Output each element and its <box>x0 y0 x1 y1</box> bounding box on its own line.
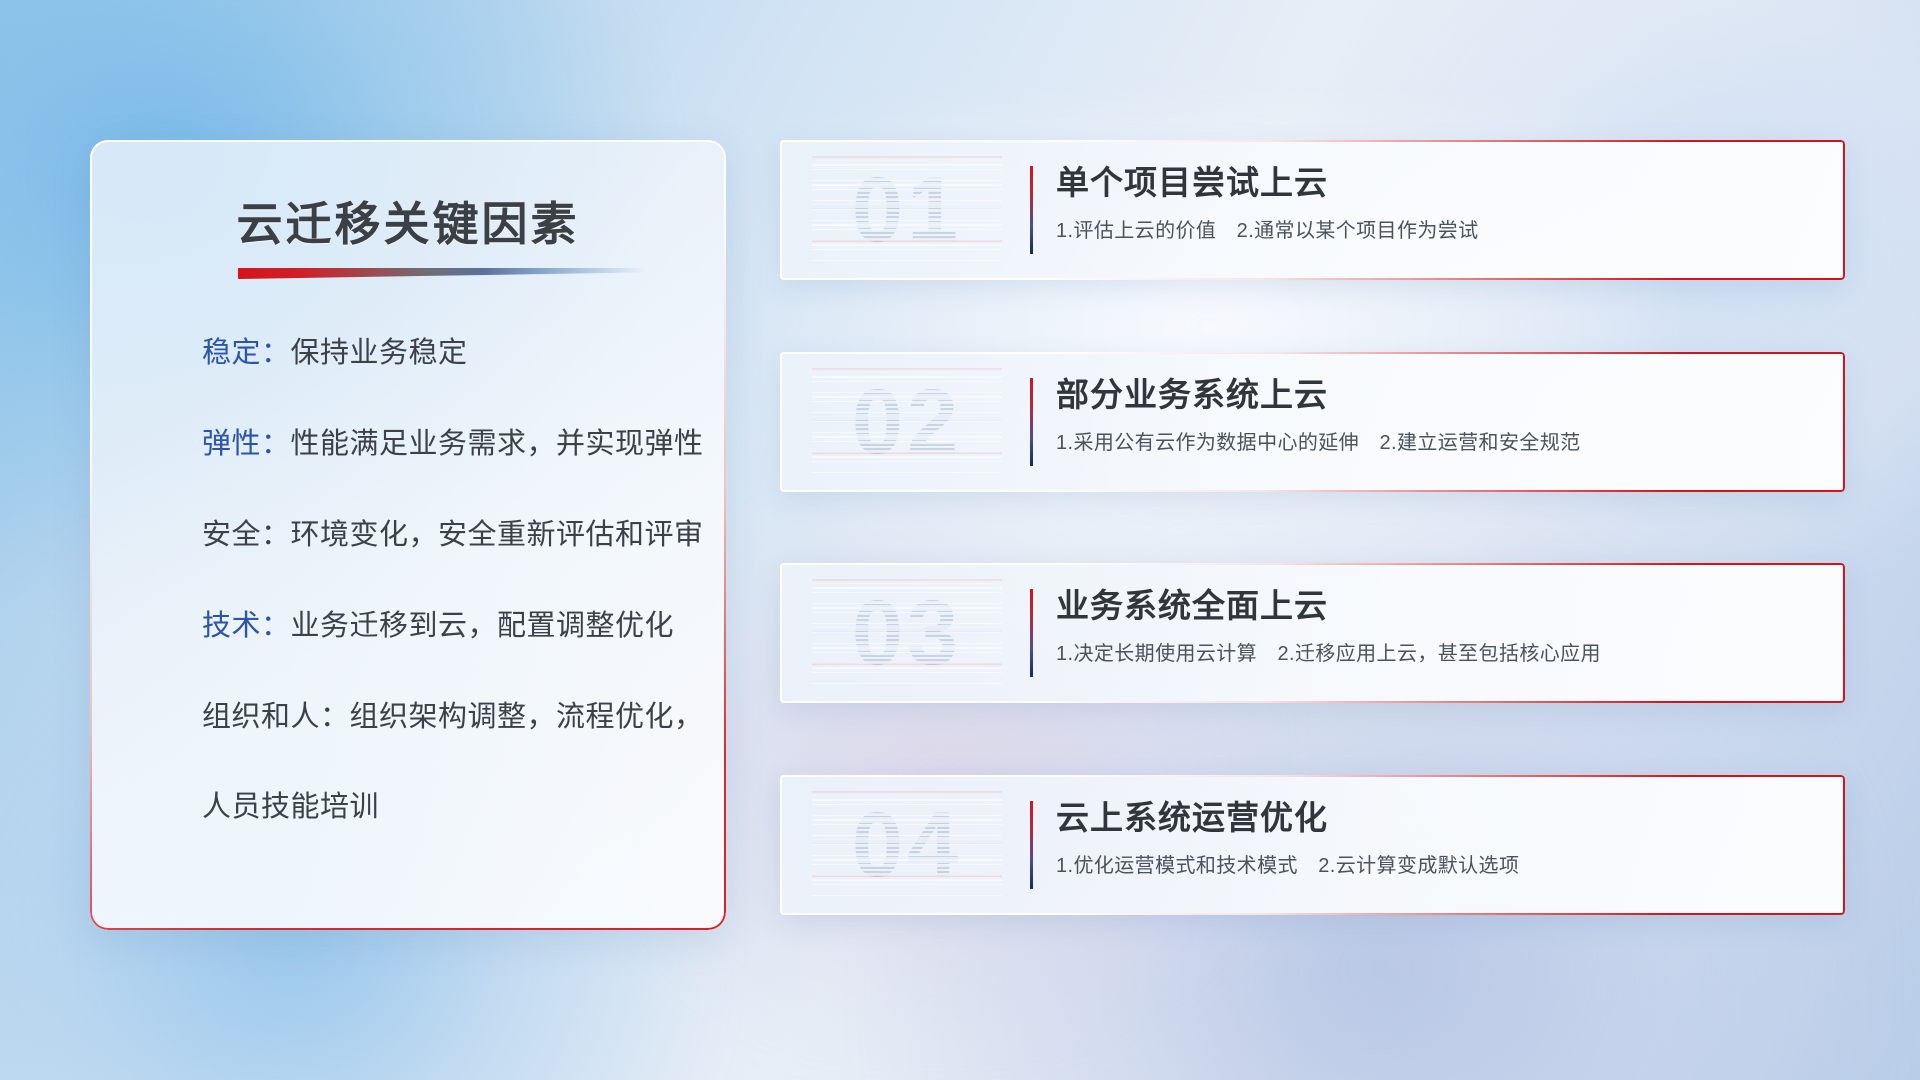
step-description: 1.优化运营模式和技术模式 2.云计算变成默认选项 <box>1056 853 1815 879</box>
list-item: 安全：环境变化，安全重新评估和评审 <box>202 520 682 552</box>
list-item-key: 稳定： <box>202 337 291 369</box>
step-description: 1.评估上云的价值 2.通常以某个项目作为尝试 <box>1056 218 1815 244</box>
step-description: 1.采用公有云作为数据中心的延伸 2.建立运营和安全规范 <box>1056 430 1815 456</box>
step-divider-bar <box>1030 801 1033 889</box>
step-body: 云上系统运营优化 1.优化运营模式和技术模式 2.云计算变成默认选项 <box>1056 797 1815 879</box>
title-underline-bar <box>238 268 646 279</box>
list-item-value: 组织架构调整，流程优化， <box>350 701 704 733</box>
step-title: 单个项目尝试上云 <box>1056 162 1815 204</box>
list-item-value: 业务迁移到云，配置调整优化 <box>291 610 675 642</box>
list-item: 稳定：保持业务稳定 <box>202 338 682 370</box>
list-item-value: 性能满足业务需求，并实现弹性 <box>291 428 704 460</box>
list-item: 人员技能培训 <box>202 792 682 824</box>
list-item: 组织和人：组织架构调整，流程优化， <box>202 702 682 734</box>
list-item-key: 组织和人： <box>202 701 350 733</box>
step-body: 单个项目尝试上云 1.评估上云的价值 2.通常以某个项目作为尝试 <box>1056 162 1815 244</box>
list-item-key: 弹性： <box>202 428 291 460</box>
list-item-key: 安全： <box>202 519 291 551</box>
key-factors-list: 稳定：保持业务稳定 弹性：性能满足业务需求，并实现弹性 安全：环境变化，安全重新… <box>202 338 682 824</box>
step-divider-bar <box>1030 589 1033 677</box>
page-title: 云迁移关键因素 <box>90 188 726 254</box>
list-item: 技术：业务迁移到云，配置调整优化 <box>202 611 682 643</box>
step-number-glyph: 04 <box>812 791 1002 899</box>
step-number-glyph: 02 <box>812 368 1002 476</box>
step-description: 1.决定长期使用云计算 2.迁移应用上云，甚至包括核心应用 <box>1056 641 1815 667</box>
step-body: 业务系统全面上云 1.决定长期使用云计算 2.迁移应用上云，甚至包括核心应用 <box>1056 585 1815 667</box>
list-item-value: 保持业务稳定 <box>291 337 468 369</box>
step-title: 部分业务系统上云 <box>1056 374 1815 416</box>
list-item-key: 技术： <box>202 610 291 642</box>
list-item: 弹性：性能满足业务需求，并实现弹性 <box>202 429 682 461</box>
step-card-01[interactable]: 01 单个项目尝试上云 1.评估上云的价值 2.通常以某个项目作为尝试 <box>780 140 1845 280</box>
list-item-value: 人员技能培训 <box>202 791 379 823</box>
step-title: 业务系统全面上云 <box>1056 585 1815 627</box>
step-divider-bar <box>1030 378 1033 466</box>
step-number-glyph: 03 <box>812 579 1002 687</box>
step-title: 云上系统运营优化 <box>1056 797 1815 839</box>
step-card-02[interactable]: 02 部分业务系统上云 1.采用公有云作为数据中心的延伸 2.建立运营和安全规范 <box>780 352 1845 492</box>
step-body: 部分业务系统上云 1.采用公有云作为数据中心的延伸 2.建立运营和安全规范 <box>1056 374 1815 456</box>
list-item-value: 环境变化，安全重新评估和评审 <box>291 519 704 551</box>
slide-stage: 云迁移关键因素 稳定：保持业务稳定 弹性：性能满足业务需求，并实现弹性 安全：环… <box>0 0 1920 1080</box>
step-card-03[interactable]: 03 业务系统全面上云 1.决定长期使用云计算 2.迁移应用上云，甚至包括核心应… <box>780 563 1845 703</box>
step-number-glyph: 01 <box>812 156 1002 264</box>
key-factors-panel: 云迁移关键因素 稳定：保持业务稳定 弹性：性能满足业务需求，并实现弹性 安全：环… <box>90 140 726 930</box>
step-divider-bar <box>1030 166 1033 254</box>
step-card-04[interactable]: 04 云上系统运营优化 1.优化运营模式和技术模式 2.云计算变成默认选项 <box>780 775 1845 915</box>
